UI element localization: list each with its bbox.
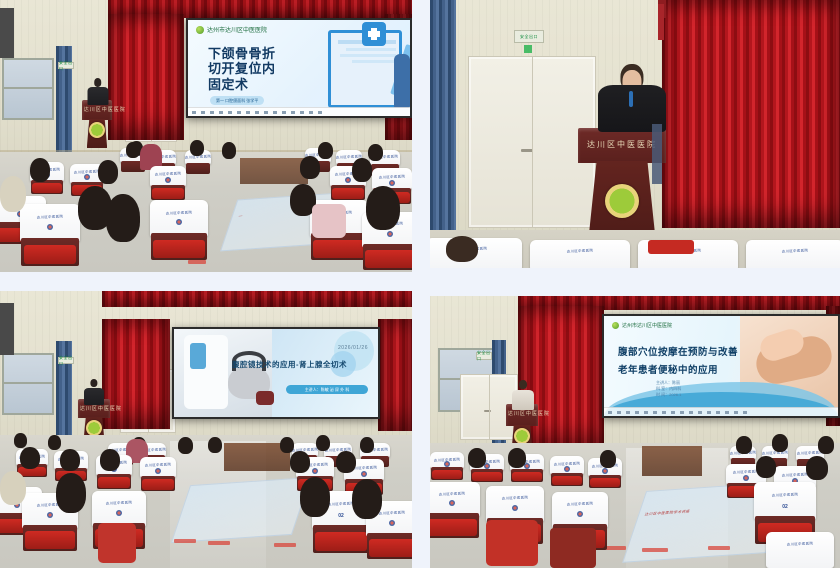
podium-label: 达川区中医医院 — [80, 405, 108, 412]
exit-sign: 安全出口 — [58, 357, 74, 364]
photo-collage: 安全出口 — [0, 0, 840, 568]
av-speaker — [0, 8, 14, 58]
projection-screen: 达州市达川区中医医院 腹部穴位按摩在预防与改善 老年患者便秘中的应用 主讲人：陈… — [602, 314, 840, 418]
slide-subtitle: 主讲人：陈敏 泌 尿 外 科 — [286, 385, 368, 394]
seat: 达川区中医医院 — [746, 240, 840, 268]
slide-title: 下颌骨骨折 切开复位内 固定术 — [208, 46, 276, 92]
seat: 达川区中医医院 — [140, 457, 176, 491]
slide-title: 腹腔镜技术的应用-肾上腺全切术 — [232, 359, 372, 370]
projection-screen: 2026/01/26 腹腔镜技术的应用-肾上腺全切术 主讲人：陈敏 泌 尿 外 … — [172, 327, 380, 419]
av-speaker — [0, 303, 14, 355]
curtain-left — [108, 14, 184, 140]
photo-bottom-right: 安全出口 达州市达川 — [430, 296, 840, 568]
slide-toolbar — [188, 107, 410, 116]
exit-sign-label: 安全出口 — [477, 350, 491, 362]
blue-drape — [430, 0, 456, 236]
exit-sign: 安全出口 — [514, 30, 544, 43]
seat: 达川区中医医院 — [20, 204, 80, 266]
slide-title: 腹部穴位按摩在预防与改善 老年患者便秘中的应用 — [618, 344, 738, 379]
slide-hospital-logo: 达州市达川区中医医院 — [612, 322, 672, 329]
slide-toolbar — [604, 407, 838, 416]
photo-top-right: 安全出口 达川区中医医院 — [430, 0, 840, 268]
photo-top-left: 安全出口 — [0, 0, 412, 272]
exit-sign: 安全出口 — [58, 62, 74, 69]
seat-number: 02 — [782, 504, 788, 510]
curtain-valance — [102, 291, 412, 307]
seat-number: 02 — [338, 513, 344, 519]
slide-subtitle: 第一 口腔颌面科 张学平 — [210, 96, 264, 105]
hospital-emblem-icon — [605, 184, 639, 218]
podium-label: 达川区中医医院 — [508, 410, 536, 417]
exit-sign-label: 安全出口 — [59, 60, 73, 72]
floor-reflection — [171, 477, 311, 543]
hospital-emblem-icon — [89, 122, 105, 138]
presenter — [512, 380, 534, 410]
projection-screen: 达州市达川区中医医院 下颌骨骨折 切开复位内 固定术 第一 口腔颌面科 张学平 — [186, 18, 412, 118]
slide-date: 2026/01/26 — [338, 345, 368, 351]
curtain — [662, 0, 840, 228]
seat: 达川区中医医院 — [150, 166, 186, 200]
slide-hospital-name: 达州市达川区中医医院 — [207, 25, 267, 34]
door — [468, 56, 596, 228]
seat: 达川区中医医院 — [550, 456, 584, 486]
presenter — [84, 379, 104, 405]
hospital-logo-icon — [196, 26, 204, 34]
photo-bottom-left: 安全出口 20 — [0, 291, 412, 568]
podium: 达川区中医医院 — [82, 100, 112, 148]
exit-sign-label: 安全出口 — [520, 34, 538, 40]
window — [2, 58, 54, 120]
seat: 达川区中医医院 — [430, 482, 480, 538]
seat: 达川区中医医院 — [150, 200, 208, 260]
seat: 达川区中医医院 — [530, 240, 630, 268]
hospital-emblem-icon — [86, 420, 102, 436]
floor-banner-text: 达川区中医医院学术讲座 — [644, 509, 691, 517]
slide-subtitle: 主讲人：陈丽 科 室：内四科 时 间：2026.1 — [656, 380, 681, 398]
presenter — [87, 78, 108, 105]
exit-sign: 安全出口 — [476, 352, 492, 360]
curtain-left — [102, 319, 170, 429]
window — [2, 353, 54, 415]
curtain-right — [378, 319, 412, 431]
hospital-emblem-icon — [514, 428, 530, 444]
microphone-icon — [629, 91, 633, 107]
seat: 达川区中医医院 — [430, 452, 464, 480]
podium-label: 达川区中医医院 — [84, 106, 110, 113]
exit-sign-label: 安全出口 — [59, 355, 73, 367]
hospital-logo-icon — [612, 322, 619, 329]
slide-hospital-name: 达州市达川区中医医院 — [622, 322, 672, 329]
slide-hospital-logo: 达州市达川区中医医院 — [196, 25, 267, 34]
podium-label: 达川区中医医院 — [583, 139, 660, 150]
seat: 达川区中医医院 — [766, 532, 834, 568]
